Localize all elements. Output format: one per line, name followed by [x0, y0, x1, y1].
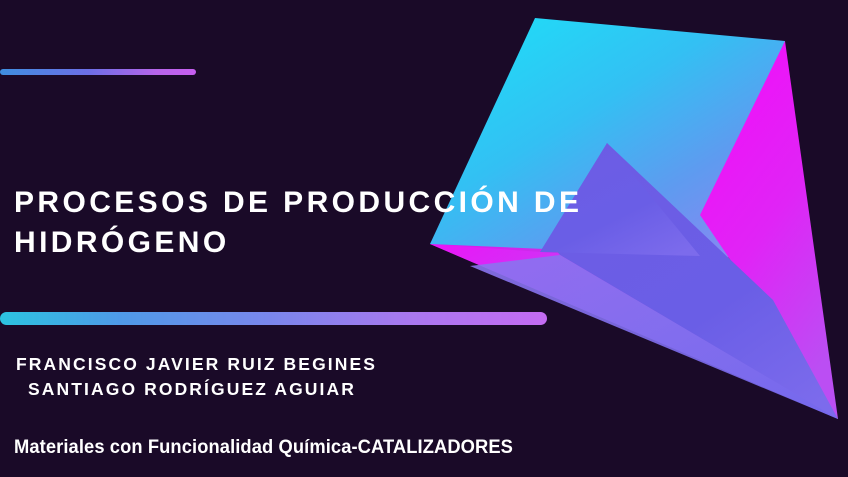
slide-title: PROCESOS DE PRODUCCIÓN DE HIDRÓGENO: [14, 183, 614, 263]
mid-accent-bar: [0, 312, 547, 325]
magenta-triangle-shape: [700, 41, 838, 419]
course-subtitle: Materiales con Funcionalidad Química-CAT…: [14, 436, 672, 459]
title-slide: PROCESOS DE PRODUCCIÓN DE HIDRÓGENO FRAN…: [0, 0, 848, 477]
author-name-1: FRANCISCO JAVIER RUIZ BEGINES: [16, 352, 576, 377]
top-accent-bar: [0, 69, 196, 75]
author-name-2: SANTIAGO RODRÍGUEZ AGUIAR: [16, 377, 576, 402]
lavender-wedge-shape: [607, 143, 838, 419]
author-list: FRANCISCO JAVIER RUIZ BEGINES SANTIAGO R…: [16, 352, 576, 403]
